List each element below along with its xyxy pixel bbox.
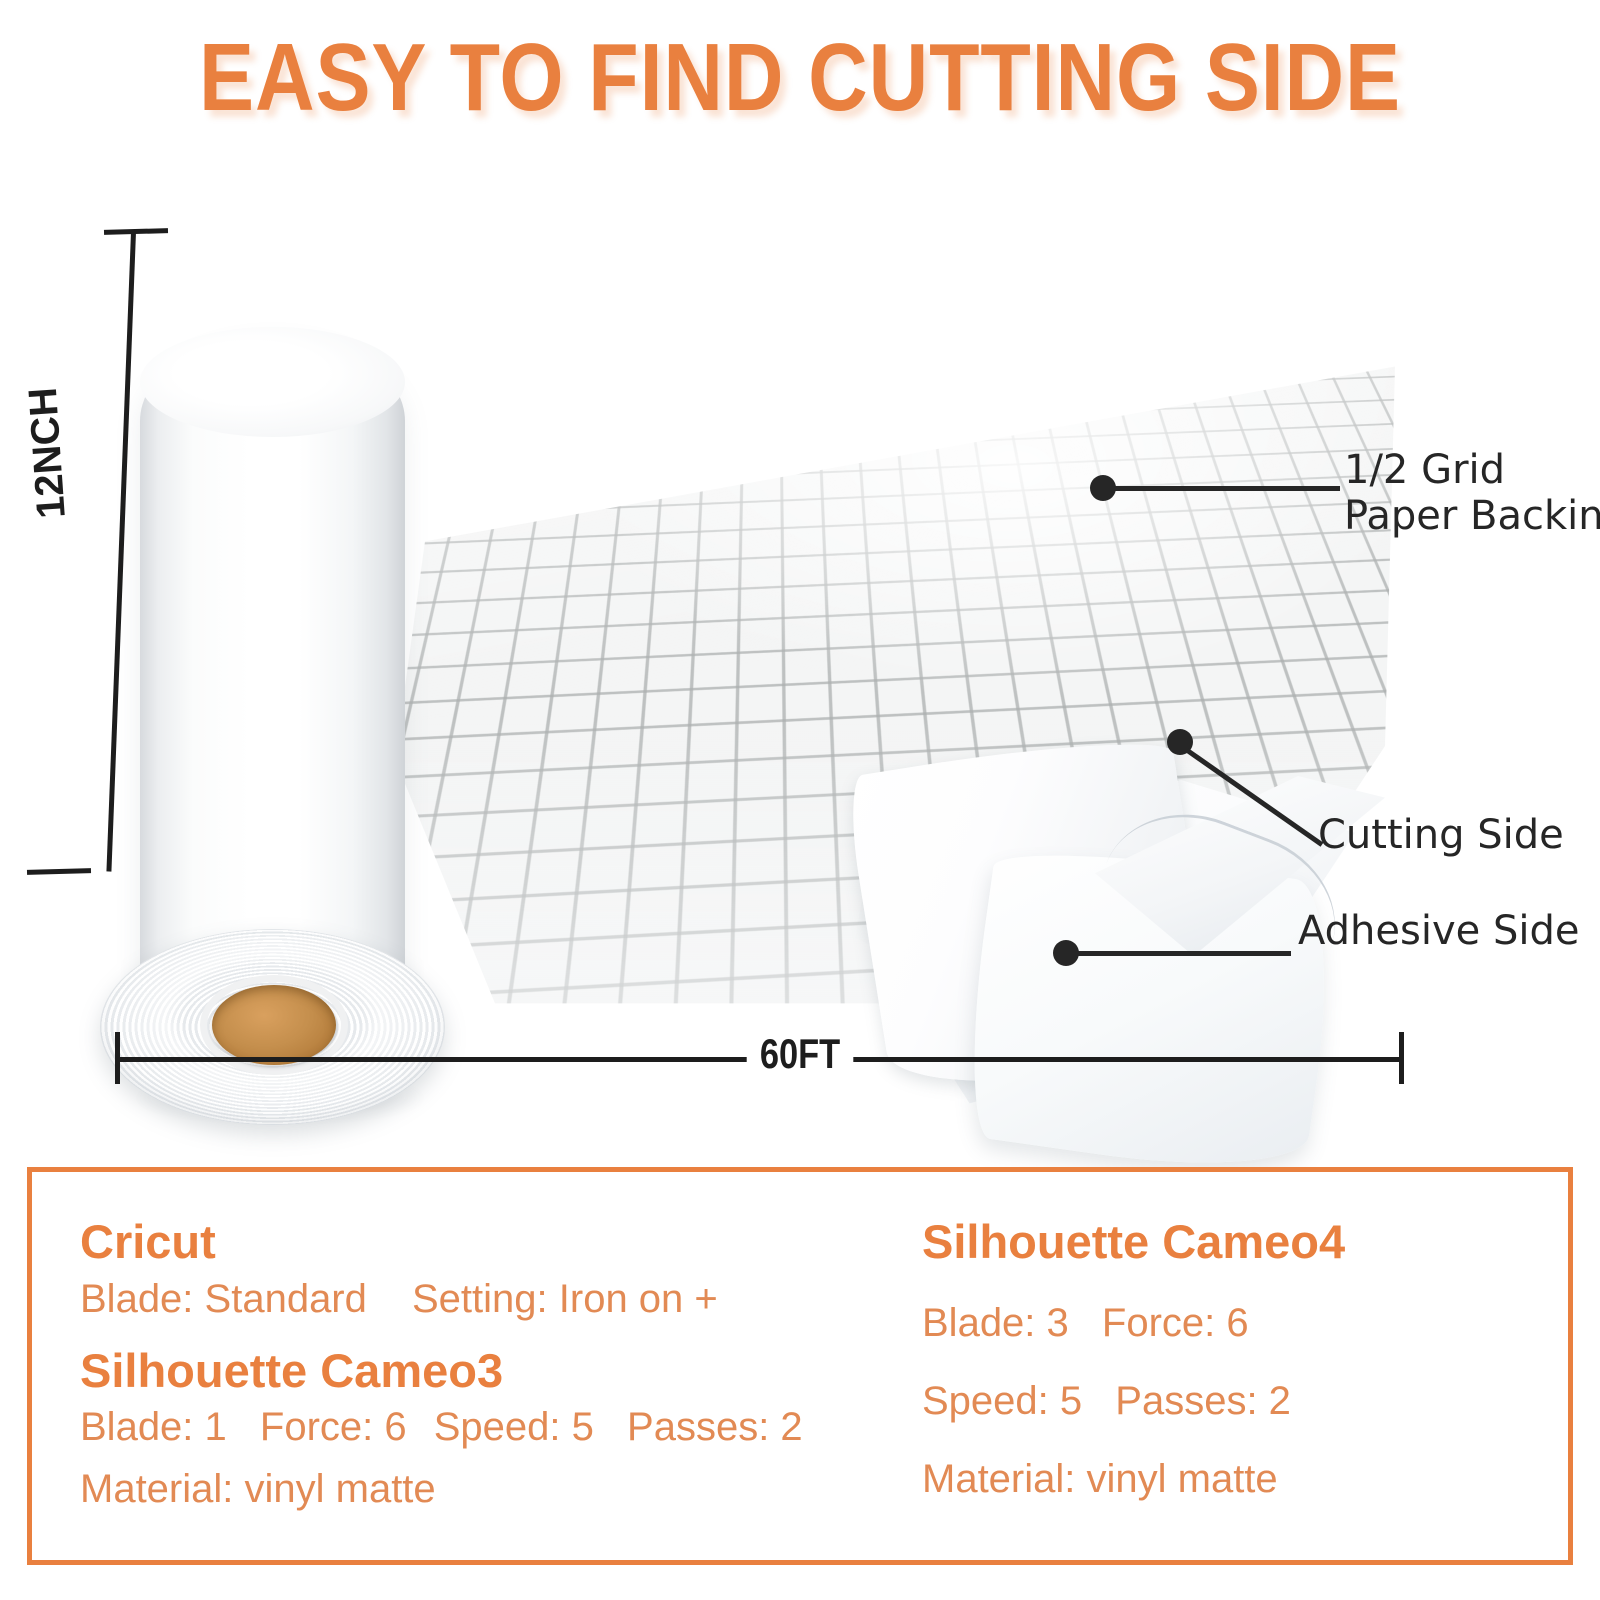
machine-name-cameo3: Silhouette Cameo3 (80, 1345, 870, 1398)
cameo3-material: Material: vinyl matte (80, 1465, 870, 1513)
dim-horizontal-label: 60FT (0, 1030, 1600, 1078)
product-photo-stage (0, 150, 1600, 1110)
cameo4-passes: Passes: 2 (1115, 1377, 1291, 1425)
cameo4-material: Material: vinyl matte (922, 1455, 1542, 1503)
cameo3-blade: Blade: 1 (80, 1403, 227, 1451)
callout-cutting-side-line1: Cutting Side (1318, 812, 1564, 858)
roll-top-cap (140, 327, 405, 437)
callout-label-grid-backing: 1/2 Grid Paper Backing (1344, 447, 1600, 539)
cameo4-speed-passes-row: Speed: 5 Passes: 2 (922, 1377, 1542, 1425)
callout-label-cutting-side: Cutting Side (1318, 812, 1564, 858)
callout-line-adhesive-side (1071, 951, 1291, 956)
cameo3-passes: Passes: 2 (627, 1403, 803, 1451)
settings-column-right: Silhouette Cameo4 Blade: 3 Force: 6 Spee… (922, 1216, 1542, 1503)
machine-name-cameo4: Silhouette Cameo4 (922, 1216, 1542, 1269)
cameo3-settings-row: Blade: 1 Force: 6 Speed: 5 Passes: 2 (80, 1403, 870, 1451)
cameo4-blade-force-row: Blade: 3 Force: 6 (922, 1299, 1542, 1347)
callout-grid-backing-line1: 1/2 Grid (1344, 447, 1600, 493)
cameo4-blade: Blade: 3 (922, 1299, 1069, 1347)
product-infographic: EASY TO FIND CUTTING SIDE (0, 0, 1600, 1600)
machine-name-cricut: Cricut (80, 1216, 870, 1269)
cameo3-speed: Speed: 5 (434, 1403, 594, 1451)
cameo3-force: Force: 6 (260, 1403, 407, 1451)
dim-horizontal-label-text: 60FT (747, 1030, 854, 1078)
callout-adhesive-side-line1: Adhesive Side (1298, 908, 1579, 954)
cricut-settings-row: Blade: Standard Setting: Iron on + (80, 1275, 870, 1323)
settings-column-left: Cricut Blade: Standard Setting: Iron on … (80, 1216, 870, 1513)
dim-vertical-label: 12NCH (21, 386, 75, 520)
callout-grid-backing-line2: Paper Backing (1344, 493, 1600, 539)
machine-settings-panel: Cricut Blade: Standard Setting: Iron on … (27, 1167, 1573, 1565)
cameo4-force: Force: 6 (1102, 1299, 1249, 1347)
cricut-blade: Blade: Standard (80, 1275, 367, 1323)
callout-label-adhesive-side: Adhesive Side (1298, 908, 1579, 954)
cricut-setting: Setting: Iron on + (412, 1275, 718, 1323)
page-title: EASY TO FIND CUTTING SIDE (112, 28, 1488, 129)
vinyl-roll (100, 335, 445, 1125)
cameo4-speed: Speed: 5 (922, 1377, 1082, 1425)
callout-line-grid-backing (1108, 486, 1340, 491)
